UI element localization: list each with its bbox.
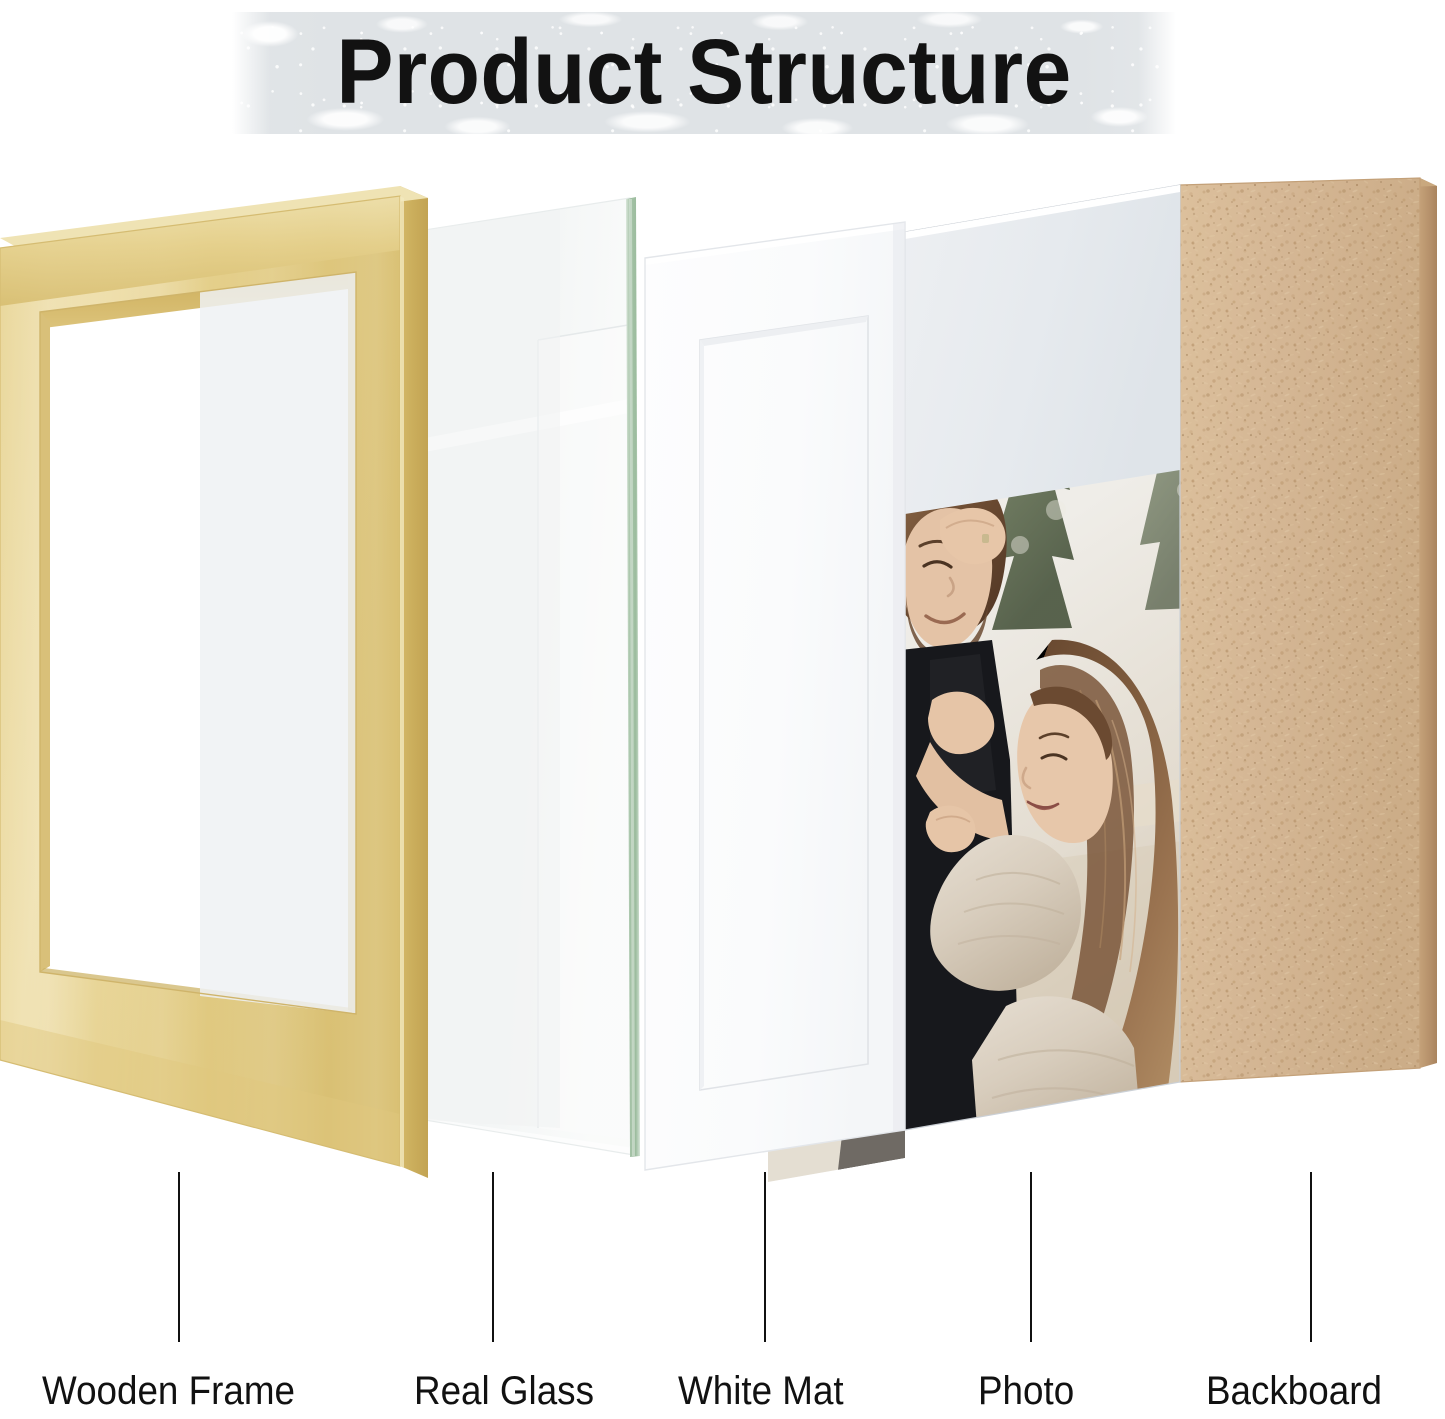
layer-wooden-frame — [0, 186, 428, 1178]
exploded-layers-illustration — [0, 0, 1445, 1200]
layer-glass-backing-sheet — [425, 210, 560, 1128]
label-white-mat: White Mat — [678, 1368, 844, 1414]
leader-line-photo — [1030, 1172, 1032, 1342]
layer-backboard — [1170, 170, 1445, 1117]
label-real-glass: Real Glass — [414, 1368, 594, 1414]
leader-line-white-mat — [764, 1172, 766, 1342]
product-structure-infographic: Product Structure — [0, 0, 1445, 1419]
leader-line-real-glass — [492, 1172, 494, 1342]
label-backboard: Backboard — [1206, 1368, 1382, 1414]
layer-photo-sheet-top — [905, 185, 1180, 514]
layer-white-mat — [645, 222, 905, 1170]
leader-line-wooden-frame — [178, 1172, 180, 1342]
label-photo: Photo — [978, 1368, 1074, 1414]
leader-line-backboard — [1310, 1172, 1312, 1342]
label-wooden-frame: Wooden Frame — [42, 1368, 295, 1414]
